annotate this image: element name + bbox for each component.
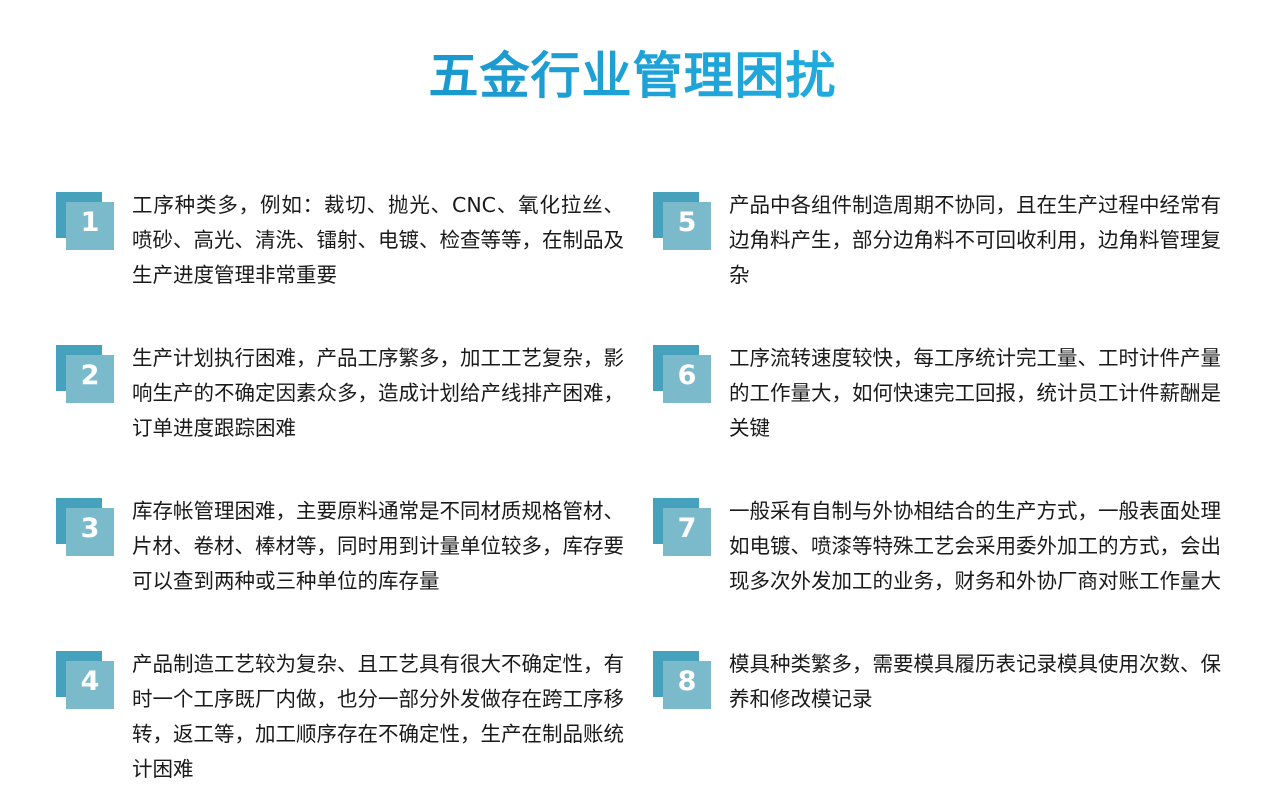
- number-badge: 5: [653, 192, 715, 254]
- number-badge: 2: [56, 345, 118, 407]
- list-item-text: 工序种类多，例如：裁切、抛光、CNC、氧化拉丝、喷砂、高光、清洗、镭射、电镀、检…: [132, 186, 624, 293]
- list-item-text: 库存帐管理困难，主要原料通常是不同材质规格管材、片材、卷材、棒材等，同时用到计量…: [132, 492, 624, 599]
- number-badge: 4: [56, 651, 118, 713]
- badge-number: 8: [663, 661, 711, 703]
- column-left: 1 工序种类多，例如：裁切、抛光、CNC、氧化拉丝、喷砂、高光、清洗、镭射、电镀…: [56, 186, 628, 787]
- badge-number: 2: [66, 355, 114, 397]
- list-item-text: 一般采有自制与外协相结合的生产方式，一般表面处理如电镀、喷漆等特殊工艺会采用委外…: [729, 492, 1221, 599]
- badge-number: 5: [663, 202, 711, 244]
- badge-number: 1: [66, 202, 114, 244]
- list-item: 4 产品制造工艺较为复杂、且工艺具有很大不确定性，有时一个工序既厂内做，也分一部…: [56, 645, 628, 787]
- number-badge: 1: [56, 192, 118, 254]
- badge-number: 6: [663, 355, 711, 397]
- number-badge: 7: [653, 498, 715, 560]
- list-item: 7 一般采有自制与外协相结合的生产方式，一般表面处理如电镀、喷漆等特殊工艺会采用…: [653, 492, 1225, 599]
- page-title: 五金行业管理困扰: [0, 44, 1265, 108]
- badge-number: 4: [66, 661, 114, 703]
- list-item-text: 产品制造工艺较为复杂、且工艺具有很大不确定性，有时一个工序既厂内做，也分一部分外…: [132, 645, 624, 787]
- list-item-text: 产品中各组件制造周期不协同，且在生产过程中经常有边角料产生，部分边角料不可回收利…: [729, 186, 1221, 293]
- number-badge: 6: [653, 345, 715, 407]
- list-item: 6 工序流转速度较快，每工序统计完工量、工时计件产量的工作量大，如何快速完工回报…: [653, 339, 1225, 446]
- content-area: 1 工序种类多，例如：裁切、抛光、CNC、氧化拉丝、喷砂、高光、清洗、镭射、电镀…: [0, 186, 1265, 686]
- badge-number: 3: [66, 508, 114, 550]
- list-item: 3 库存帐管理困难，主要原料通常是不同材质规格管材、片材、卷材、棒材等，同时用到…: [56, 492, 628, 599]
- list-item-text: 工序流转速度较快，每工序统计完工量、工时计件产量的工作量大，如何快速完工回报，统…: [729, 339, 1221, 446]
- number-badge: 3: [56, 498, 118, 560]
- list-item-text: 模具种类繁多，需要模具履历表记录模具使用次数、保养和修改模记录: [729, 645, 1221, 717]
- list-item: 5 产品中各组件制造周期不协同，且在生产过程中经常有边角料产生，部分边角料不可回…: [653, 186, 1225, 293]
- list-item: 8 模具种类繁多，需要模具履历表记录模具使用次数、保养和修改模记录: [653, 645, 1225, 717]
- list-item-text: 生产计划执行困难，产品工序繁多，加工工艺复杂，影响生产的不确定因素众多，造成计划…: [132, 339, 624, 446]
- number-badge: 8: [653, 651, 715, 713]
- list-item: 1 工序种类多，例如：裁切、抛光、CNC、氧化拉丝、喷砂、高光、清洗、镭射、电镀…: [56, 186, 628, 293]
- column-right: 5 产品中各组件制造周期不协同，且在生产过程中经常有边角料产生，部分边角料不可回…: [653, 186, 1225, 717]
- badge-number: 7: [663, 508, 711, 550]
- list-item: 2 生产计划执行困难，产品工序繁多，加工工艺复杂，影响生产的不确定因素众多，造成…: [56, 339, 628, 446]
